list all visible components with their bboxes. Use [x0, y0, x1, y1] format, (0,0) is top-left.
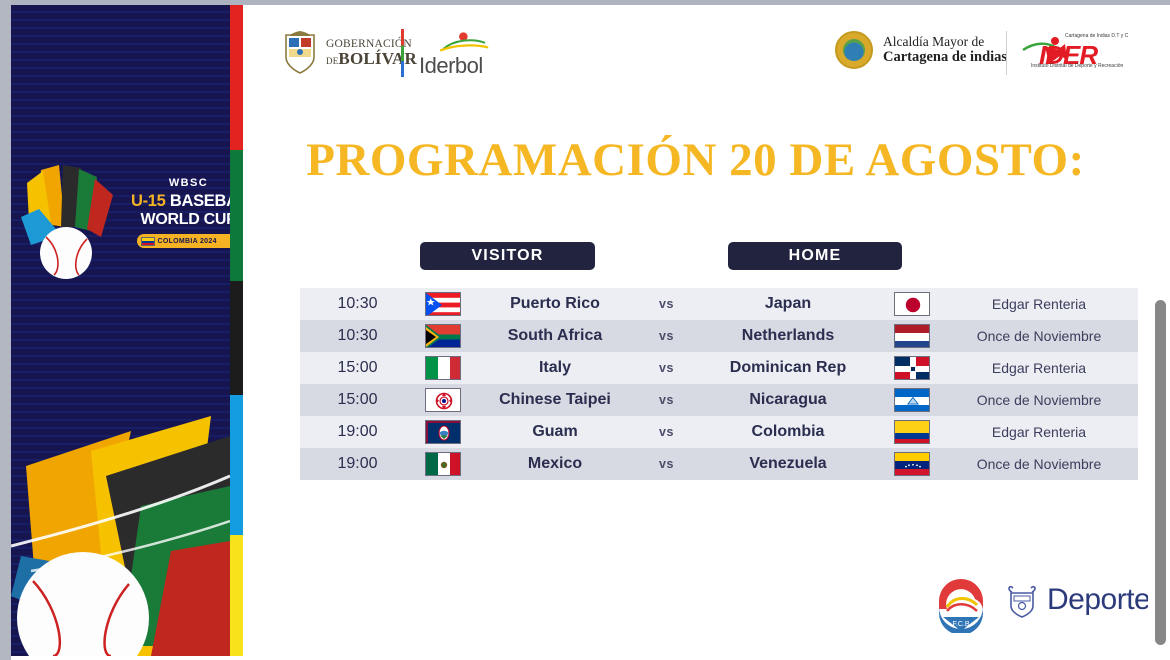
game-time: 19:00 — [300, 423, 415, 441]
visitor-team-name: Mexico — [470, 455, 640, 473]
vs-label: vs — [640, 297, 693, 311]
table-row: 10:30South AfricavsNetherlandsOnce de No… — [300, 320, 1138, 352]
wbsc-host-text: COLOMBIA 2024 — [158, 238, 217, 245]
schedule-table: 10:30Puerto RicovsJapanEdgar Renteria10:… — [300, 288, 1138, 480]
visitor-team-name: Guam — [470, 423, 640, 441]
strip-blue — [230, 395, 243, 535]
visitor-flag-cell — [415, 292, 470, 316]
flag-nicaragua-icon — [894, 388, 930, 412]
visitor-team-name: South Africa — [470, 327, 640, 345]
colombia-coat-of-arms-icon — [1005, 580, 1039, 620]
game-time: 10:30 — [300, 295, 415, 313]
flag-venezuela-icon — [894, 452, 930, 476]
flag-italy-icon — [425, 356, 461, 380]
wbsc-logo: WBSC U-15 BASEBALL WORLD CUP COLOMBIA 20… — [23, 173, 230, 283]
strip-black — [230, 281, 243, 395]
header-divider-1 — [401, 29, 404, 77]
table-header: VISITOR HOME — [243, 242, 1148, 274]
vertical-scrollbar-thumb[interactable] — [1155, 300, 1166, 645]
table-row: 19:00MexicovsVenezuelaOnce de Noviembre — [300, 448, 1138, 480]
home-flag-cell — [883, 388, 940, 412]
alcaldia-line2: Cartagena de indias — [883, 49, 1007, 65]
gobernacion-de: DE — [326, 56, 338, 66]
table-row: 15:00Chinese TaipeivsNicaraguaOnce de No… — [300, 384, 1138, 416]
home-team-name: Colombia — [693, 423, 883, 441]
vs-label: vs — [640, 329, 693, 343]
strip-green — [230, 150, 243, 281]
home-team-name: Nicaragua — [693, 391, 883, 409]
visitor-flag-cell — [415, 356, 470, 380]
vs-label: vs — [640, 425, 693, 439]
home-team-name: Dominican Rep — [693, 359, 883, 377]
home-team-name: Japan — [693, 295, 883, 313]
visitor-team-name: Chinese Taipei — [470, 391, 640, 409]
wbsc-u15-text: U-15 — [131, 192, 166, 210]
page-title: PROGRAMACIÓN 20 DE AGOSTO: — [243, 133, 1148, 187]
decorative-fan-graphic — [11, 356, 230, 656]
svg-text:F.C.B: F.C.B — [952, 621, 969, 628]
home-flag-cell — [883, 420, 940, 444]
table-row: 10:30Puerto RicovsJapanEdgar Renteria — [300, 288, 1138, 320]
gobernacion-bolivar: BOLÍVAR — [338, 49, 417, 68]
flag-guam-icon — [425, 420, 461, 444]
home-column-header: HOME — [728, 242, 902, 270]
slide-root: WBSC U-15 BASEBALL WORLD CUP COLOMBIA 20… — [0, 0, 1170, 660]
game-time: 10:30 — [300, 327, 415, 345]
header-logos: GOBERNACIÓN DEBOLÍVAR Iderbol Alcaldía M… — [243, 23, 1148, 93]
venue-name: Once de Noviembre — [940, 328, 1138, 344]
colombia-mini-flag-icon — [141, 237, 155, 246]
gobernacion-bolivar-logo: GOBERNACIÓN DEBOLÍVAR — [283, 31, 417, 75]
strip-yellow — [230, 535, 243, 656]
flag-chinese-taipei-icon — [425, 388, 461, 412]
game-time: 15:00 — [300, 391, 415, 409]
table-row: 15:00ItalyvsDominican RepEdgar Renteria — [300, 352, 1138, 384]
home-flag-cell — [883, 452, 940, 476]
flag-colombia-icon — [894, 420, 930, 444]
iderbol-logo: Iderbol — [419, 33, 499, 81]
vs-label: vs — [640, 457, 693, 471]
wbsc-host-badge: COLOMBIA 2024 — [137, 234, 231, 248]
visitor-flag-cell — [415, 324, 470, 348]
venue-name: Edgar Renteria — [940, 296, 1138, 312]
visitor-flag-cell — [415, 420, 470, 444]
flag-mexico-icon — [425, 452, 461, 476]
visitor-flag-cell — [415, 452, 470, 476]
flag-south-africa-icon — [425, 324, 461, 348]
visitor-team-name: Puerto Rico — [470, 295, 640, 313]
header-divider-2 — [1006, 31, 1007, 75]
venue-name: Once de Noviembre — [940, 456, 1138, 472]
wbsc-worldcup-text: WORLD CUP — [131, 211, 230, 229]
flag-netherlands-icon — [894, 324, 930, 348]
deporte-logo: Deporte — [1005, 580, 1150, 620]
venue-name: Edgar Renteria — [940, 360, 1138, 376]
flag-dominican-republic-icon — [894, 356, 930, 380]
color-strip — [230, 5, 243, 656]
left-branding-panel: WBSC U-15 BASEBALL WORLD CUP COLOMBIA 20… — [11, 5, 230, 656]
home-team-name: Netherlands — [693, 327, 883, 345]
visitor-team-name: Italy — [470, 359, 640, 377]
visitor-flag-cell — [415, 388, 470, 412]
window-left-edge — [0, 0, 11, 660]
flag-japan-icon — [894, 292, 930, 316]
vs-label: vs — [640, 393, 693, 407]
main-content: GOBERNACIÓN DEBOLÍVAR Iderbol Alcaldía M… — [243, 5, 1148, 656]
home-team-name: Venezuela — [693, 455, 883, 473]
deporte-wordmark: Deporte — [1047, 583, 1150, 617]
game-time: 15:00 — [300, 359, 415, 377]
alcaldia-line1: Alcaldía Mayor de — [883, 34, 1007, 49]
wbsc-brand-text: WBSC — [131, 177, 230, 189]
alcaldia-cartagena-logo: Alcaldía Mayor de Cartagena de indias — [835, 31, 1007, 69]
home-flag-cell — [883, 324, 940, 348]
home-flag-cell — [883, 292, 940, 316]
table-row: 19:00GuamvsColombiaEdgar Renteria — [300, 416, 1138, 448]
venue-name: Once de Noviembre — [940, 392, 1138, 408]
vertical-scrollbar-track[interactable] — [1148, 5, 1170, 656]
cartagena-seal-icon — [835, 31, 873, 69]
venue-name: Edgar Renteria — [940, 424, 1138, 440]
iderbol-mark-icon — [437, 29, 499, 55]
strip-red — [230, 5, 243, 150]
vs-label: vs — [640, 361, 693, 375]
iderbol-wordmark: Iderbol — [419, 53, 483, 79]
wbsc-baseball-text: BASEBALL — [170, 192, 230, 210]
fcb-federation-logo: F.C.B — [933, 573, 989, 633]
home-flag-cell — [883, 356, 940, 380]
visitor-column-header: VISITOR — [420, 242, 595, 270]
game-time: 19:00 — [300, 455, 415, 473]
ider-top-text: Cartagena de Indias D.T y C — [1065, 33, 1128, 39]
ider-logo: Cartagena de Indias D.T y C IDER Institu… — [1021, 30, 1139, 76]
flag-puerto-rico-icon — [425, 292, 461, 316]
bolivar-coat-of-arms-icon — [283, 31, 317, 75]
ider-bottom-text: Instituto Distrital de Deporte y Recreac… — [1031, 63, 1123, 69]
